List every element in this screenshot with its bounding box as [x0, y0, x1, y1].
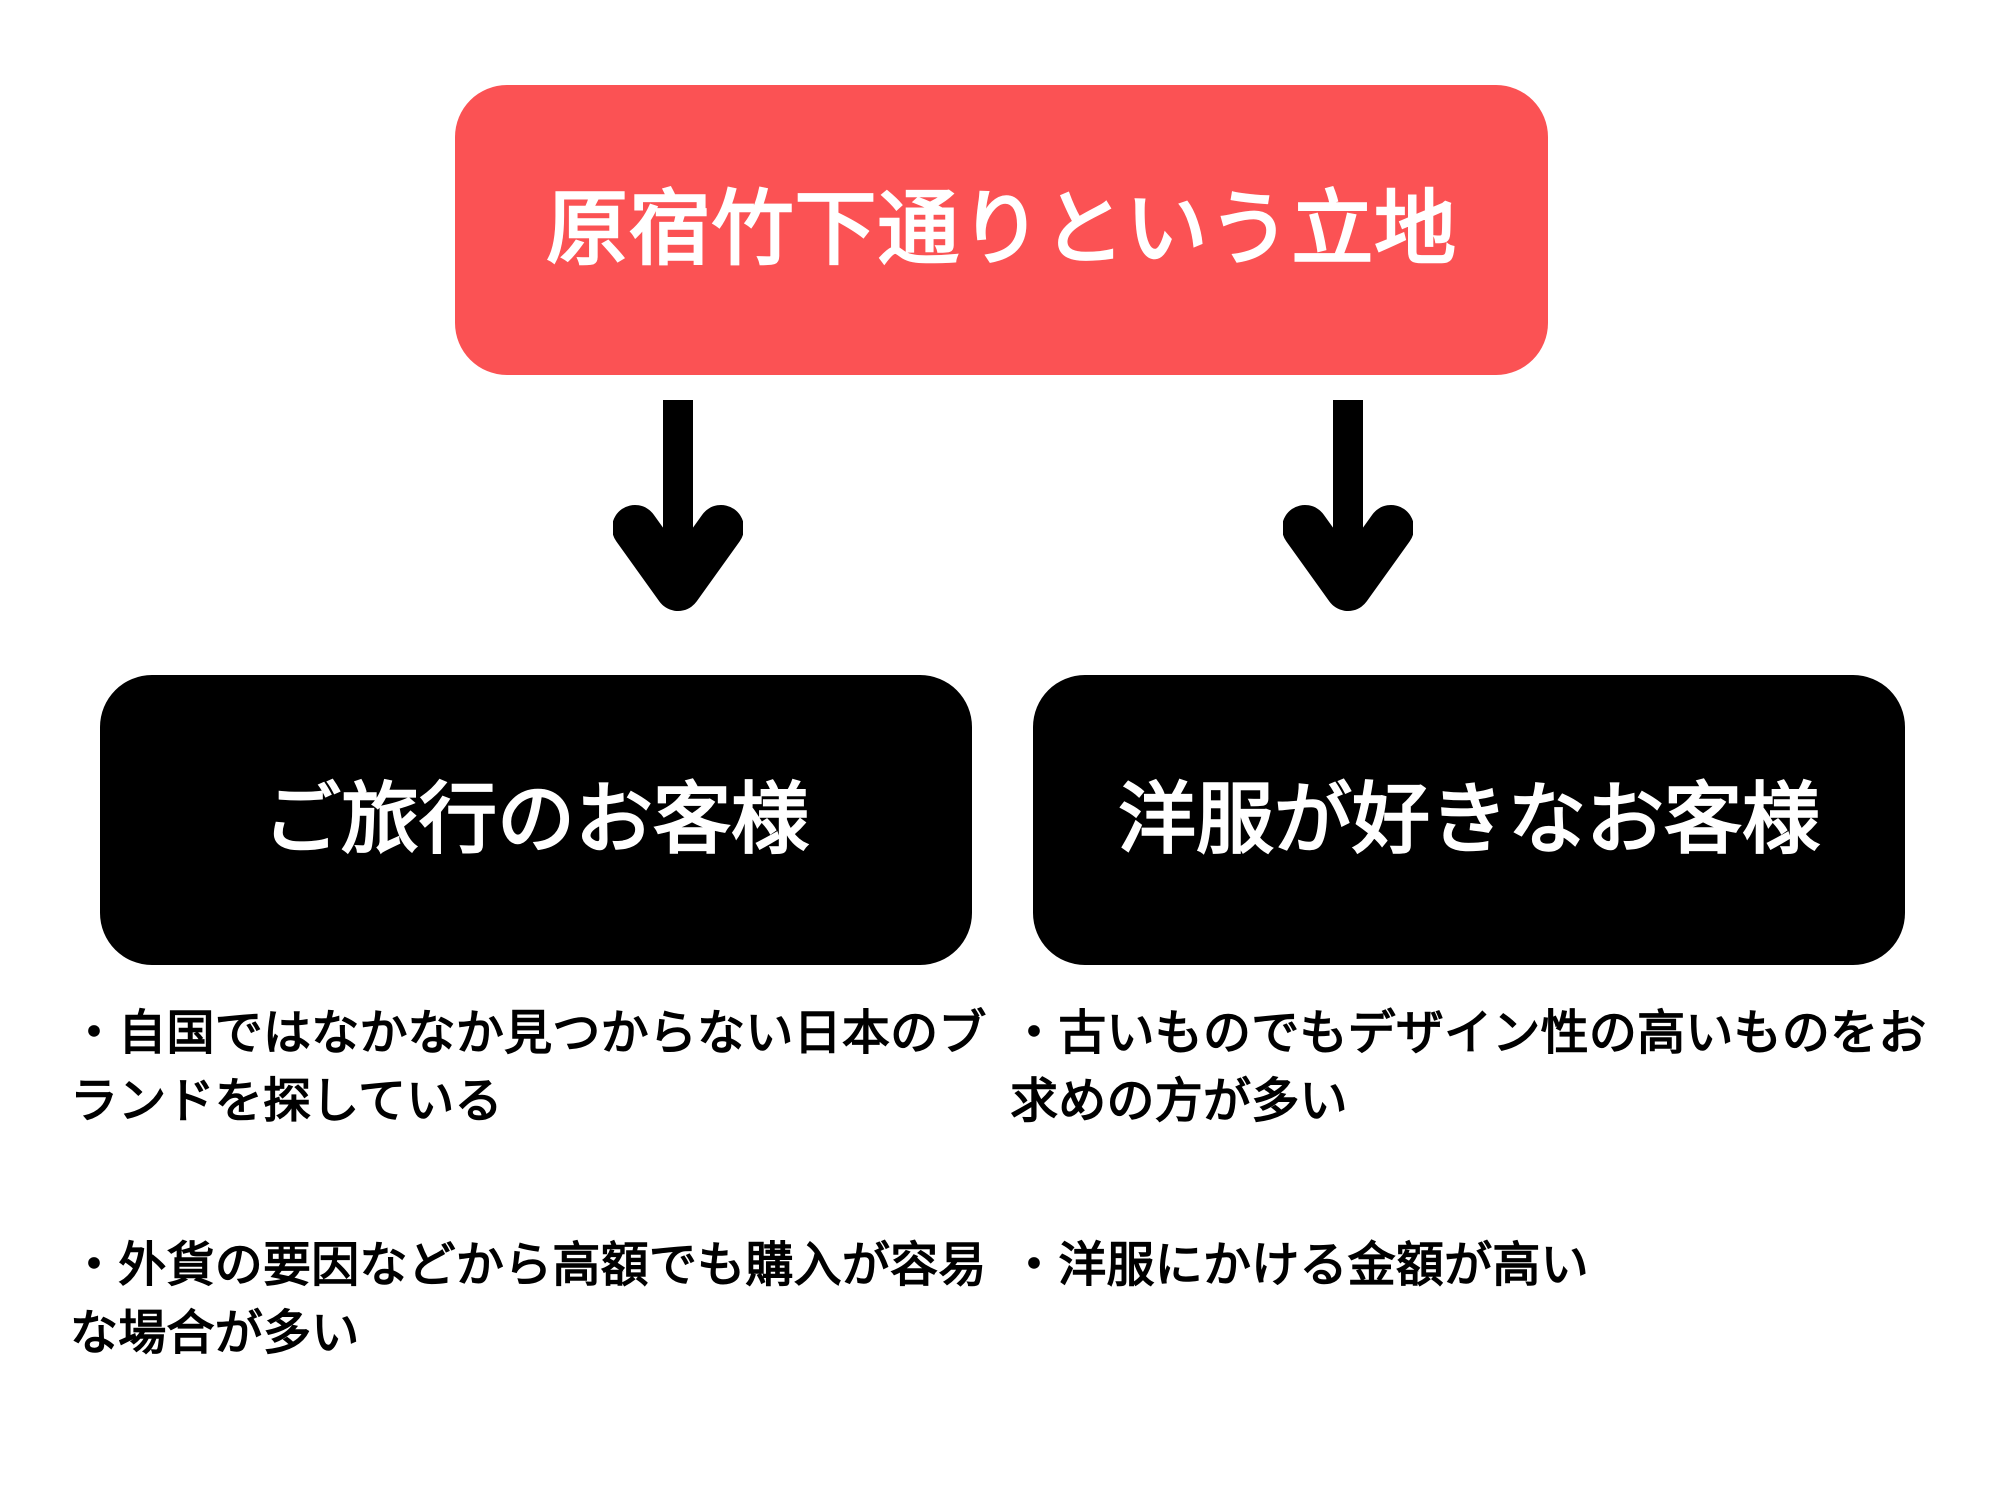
- arrow-down-icon-left: [613, 400, 743, 640]
- bullet-spacer: [70, 1136, 990, 1232]
- arrow-down-icon-right: [1283, 400, 1413, 640]
- bullet-item: ・古いものでもデザイン性の高いものをお求めの方が多い: [1010, 1000, 1970, 1136]
- branch-header-fashion-lover[interactable]: 洋服が好きなお客様: [1033, 675, 1905, 965]
- bullet-item: ・自国ではなかなか見つからない日本のブランドを探している: [70, 1000, 990, 1136]
- slide-canvas: 原宿竹下通りという立地 ご旅行のお客様 洋服が好きなお客様 ・自国ではなかなか見…: [0, 0, 2000, 1500]
- branch-bullets-traveler: ・自国ではなかなか見つからない日本のブランドを探している ・外貨の要因などから高…: [70, 1000, 990, 1369]
- bullet-item: ・外貨の要因などから高額でも購入が容易な場合が多い: [70, 1232, 990, 1368]
- bullet-item: ・洋服にかける金額が高い: [1010, 1232, 1970, 1300]
- branch-header-traveler-label: ご旅行のお客様: [263, 777, 809, 863]
- root-node-label: 原宿竹下通りという立地: [546, 185, 1457, 275]
- branch-header-fashion-lover-label: 洋服が好きなお客様: [1118, 777, 1820, 863]
- branch-bullets-fashion-lover: ・古いものでもデザイン性の高いものをお求めの方が多い ・洋服にかける金額が高い: [1010, 1000, 1970, 1300]
- root-node-location[interactable]: 原宿竹下通りという立地: [455, 85, 1548, 375]
- branch-header-traveler[interactable]: ご旅行のお客様: [100, 675, 972, 965]
- bullet-spacer: [1010, 1136, 1970, 1232]
